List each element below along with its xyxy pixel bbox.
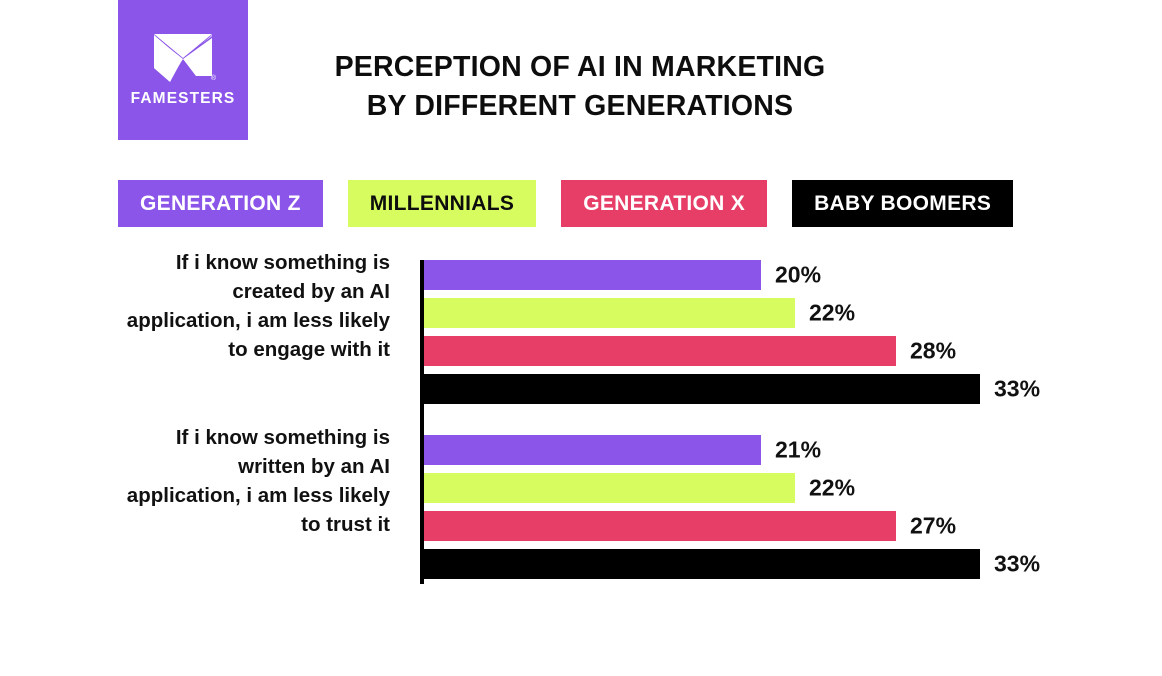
registered-trademark-icon: ® xyxy=(211,75,216,82)
bar-row: 22% xyxy=(424,473,1124,503)
chart-group-label: If i know something is written by an AI … xyxy=(120,423,390,539)
chart-group-bars: 20% 22% 28% 33% xyxy=(424,260,1124,404)
bar-millennials[interactable] xyxy=(424,473,795,503)
legend-item-baby-boomers[interactable]: BABY BOOMERS xyxy=(792,180,1013,227)
legend-item-label: BABY BOOMERS xyxy=(814,192,991,216)
bar-generation-x[interactable] xyxy=(424,336,896,366)
bar-value-label: 33% xyxy=(994,551,1040,578)
bar-generation-z[interactable] xyxy=(424,435,761,465)
bar-row: 28% xyxy=(424,336,1124,366)
bar-value-label: 22% xyxy=(809,475,855,502)
bar-generation-x[interactable] xyxy=(424,511,896,541)
bar-row: 22% xyxy=(424,298,1124,328)
bar-value-label: 27% xyxy=(910,513,956,540)
bar-baby-boomers[interactable] xyxy=(424,374,980,404)
page-title: PERCEPTION OF AI IN MARKETING BY DIFFERE… xyxy=(260,48,900,126)
page-title-line-1: PERCEPTION OF AI IN MARKETING xyxy=(260,48,900,87)
bar-row: 27% xyxy=(424,511,1124,541)
bar-value-label: 21% xyxy=(775,437,821,464)
legend-item-generation-z[interactable]: GENERATION Z xyxy=(118,180,323,227)
bar-baby-boomers[interactable] xyxy=(424,549,980,579)
bar-row: 33% xyxy=(424,374,1124,404)
bar-chart: If i know something is created by an AI … xyxy=(0,248,1162,598)
chart-group-label: If i know something is created by an AI … xyxy=(120,248,390,364)
chart-group-trust: If i know something is written by an AI … xyxy=(0,423,1162,598)
bar-value-label: 22% xyxy=(809,300,855,327)
bar-row: 33% xyxy=(424,549,1124,579)
bar-value-label: 20% xyxy=(775,262,821,289)
legend-item-generation-x[interactable]: GENERATION X xyxy=(561,180,767,227)
legend-item-label: GENERATION X xyxy=(583,192,745,216)
page-title-line-2: BY DIFFERENT GENERATIONS xyxy=(260,87,900,126)
bar-millennials[interactable] xyxy=(424,298,795,328)
legend-item-millennials[interactable]: MILLENNIALS xyxy=(348,180,536,227)
brand-logo-tile: ® FAMESTERS xyxy=(118,0,248,140)
chart-legend: GENERATION Z MILLENNIALS GENERATION X BA… xyxy=(118,180,1013,227)
bar-value-label: 33% xyxy=(994,376,1040,403)
legend-item-label: GENERATION Z xyxy=(140,192,301,216)
famesters-m-logo-icon: ® xyxy=(152,32,214,84)
chart-group-engage: If i know something is created by an AI … xyxy=(0,248,1162,423)
bar-value-label: 28% xyxy=(910,338,956,365)
bar-generation-z[interactable] xyxy=(424,260,761,290)
bar-row: 21% xyxy=(424,435,1124,465)
legend-item-label: MILLENNIALS xyxy=(370,192,514,216)
brand-name: FAMESTERS xyxy=(131,90,236,108)
bar-row: 20% xyxy=(424,260,1124,290)
infographic-page: ® FAMESTERS PERCEPTION OF AI IN MARKETIN… xyxy=(0,0,1162,676)
chart-group-bars: 21% 22% 27% 33% xyxy=(424,435,1124,579)
